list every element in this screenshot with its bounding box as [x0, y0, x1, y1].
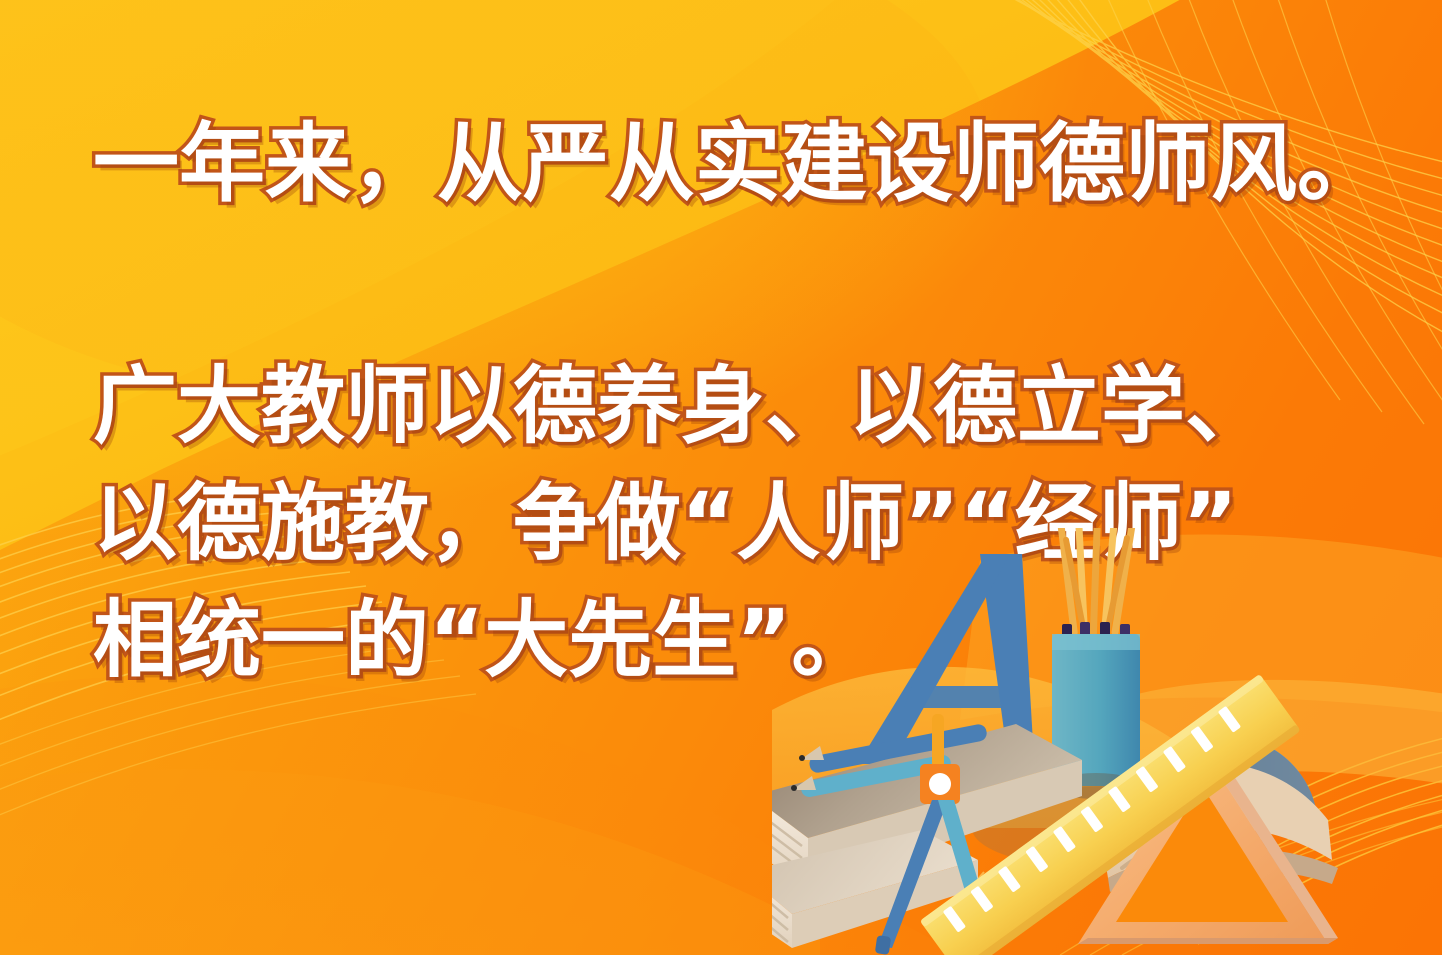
- headline-line: 一年来，从严从实建设师德师风。: [93, 116, 1383, 212]
- education-supplies-illustration: [772, 528, 1442, 955]
- body-line-3: 相统一的“大先生”。: [93, 594, 875, 686]
- illustration-svg: [772, 528, 1442, 955]
- poster-canvas: 一年来，从严从实建设师德师风。 广大教师以德养身、以德立学、 以德施教，争做“人…: [0, 0, 1442, 955]
- blue-triangle-stand-crossbar: [904, 686, 1026, 708]
- pencil-cup-sticks: [1057, 528, 1136, 636]
- body-line-1: 广大教师以德养身、以德立学、: [93, 360, 1269, 452]
- pencil-cup-rim: [1052, 634, 1140, 650]
